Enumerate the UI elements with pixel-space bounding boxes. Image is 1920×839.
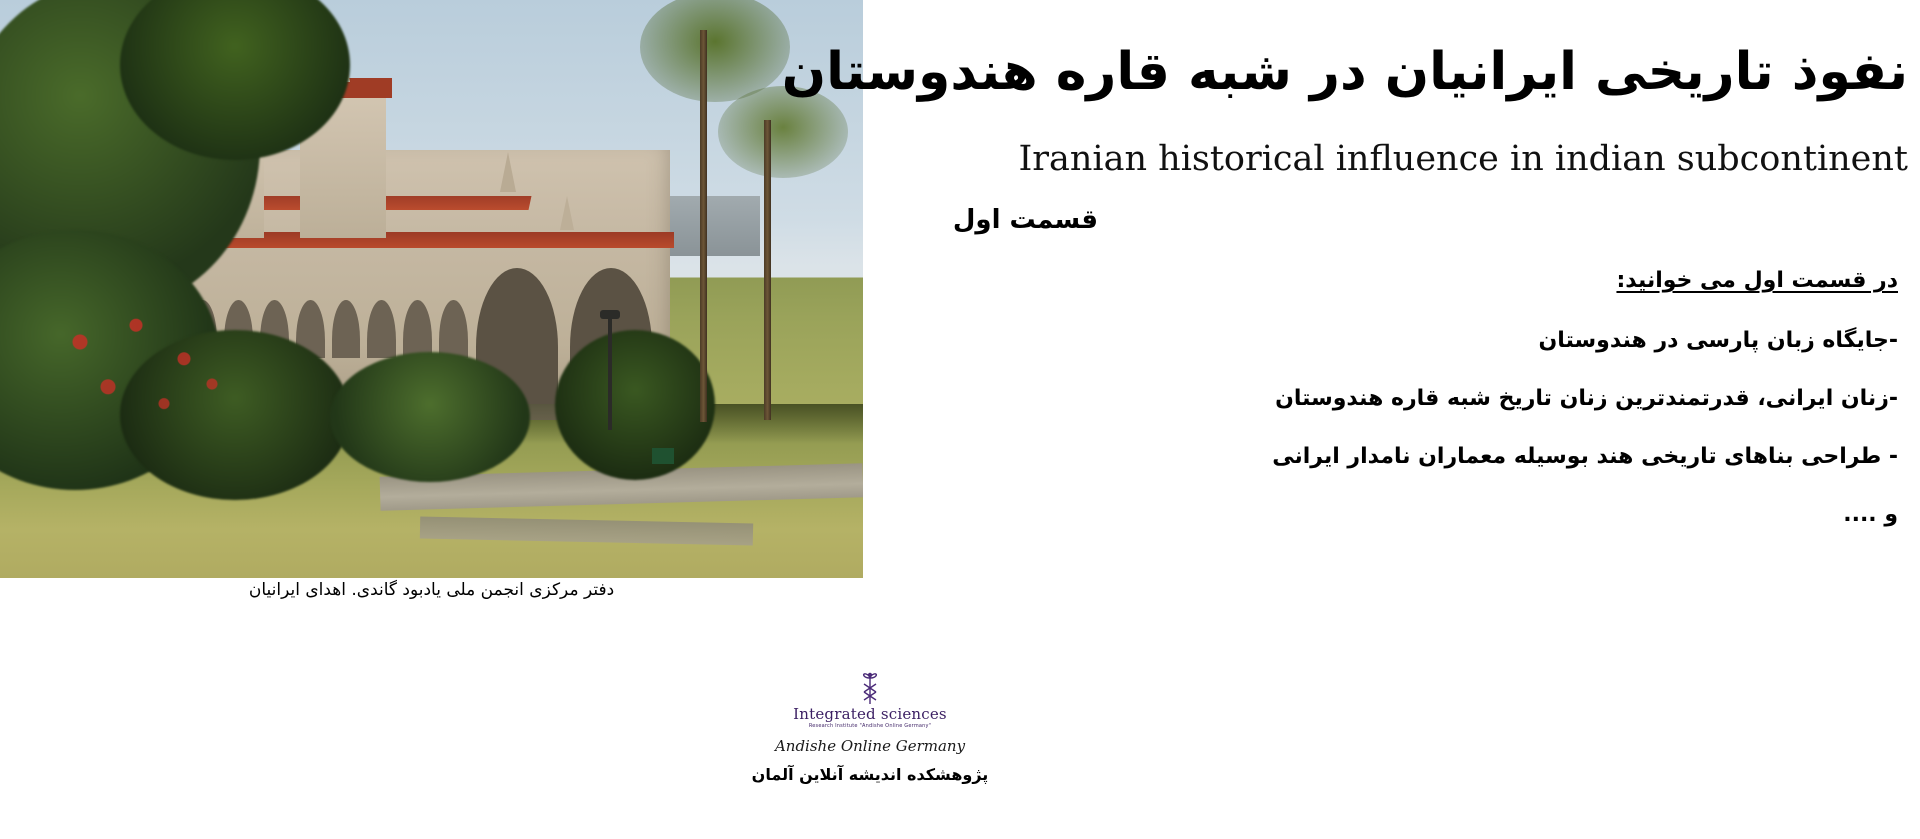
logo-tagline: Research Institute "Andishe Online Germa… [740,723,1000,729]
page-title-english: Iranian historical influence in indian s… [868,142,1908,177]
photo-tree [555,330,715,480]
slide-canvas: دفتر مرکزی انجمن ملی یادبود گاندی. اهدای… [0,0,1920,839]
page-title-persian: نفوذ تاریخی ایرانیان در شبه قاره هندوستا… [868,46,1908,98]
part-label: قسمت اول [953,205,1098,235]
photo-palm-trunk [700,30,707,422]
photo-lamp-post [608,318,612,430]
logo-name-persian: پژوهشکده اندیشه آنلاین آلمان [740,767,1000,783]
logo-name: Integrated sciences [740,707,1000,722]
list-item: - طراحی بناهای تاریخی هند بوسیله معماران… [888,444,1898,469]
logo-subtitle: Andishe Online Germany [740,739,1000,754]
photo-caption: دفتر مرکزی انجمن ملی یادبود گاندی. اهدای… [0,580,863,600]
caduceus-icon [740,672,1000,706]
list-item: -جایگاه زبان پارسی در هندوستان [888,328,1898,353]
text-column: نفوذ تاریخی ایرانیان در شبه قاره هندوستا… [863,0,1920,839]
photo-tree [330,352,530,482]
photo-garden-sign [652,448,674,464]
photo-spire-4 [560,196,574,230]
list-item: -زنان ایرانی، قدرتمندترین زنان تاریخ شبه… [888,386,1898,411]
topic-list: -جایگاه زبان پارسی در هندوستان -زنان ایر… [888,328,1898,560]
publisher-logo: Integrated sciences Research Institute "… [740,672,1000,783]
photo-palm-trunk [764,120,771,420]
lead-in-text: در قسمت اول می خوانید: [1616,268,1898,293]
photo-spire-3 [500,152,516,192]
photo-distant-building [668,196,760,256]
palace-photo [0,0,863,578]
list-item: و .... [888,502,1898,527]
photo-flowering-shrub [40,300,240,440]
